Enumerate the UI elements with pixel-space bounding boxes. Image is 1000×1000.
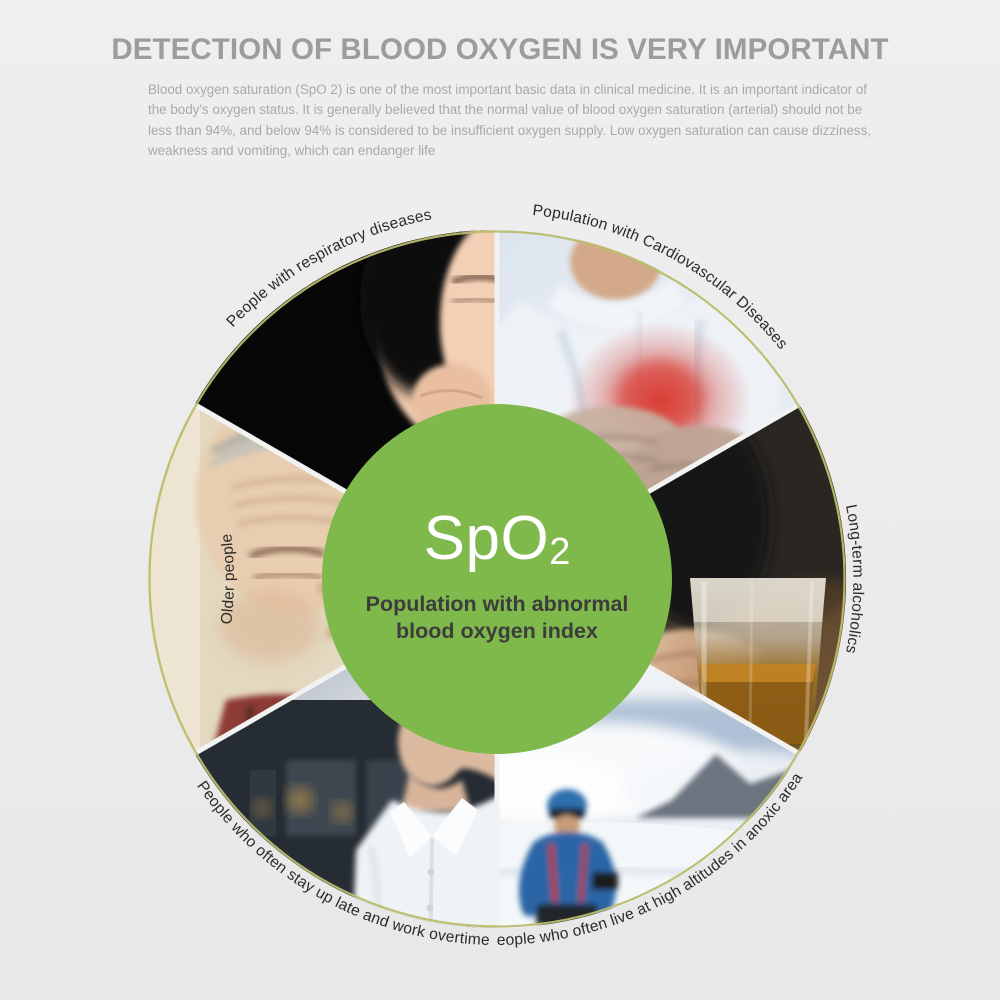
center-caption-line1: Population with abnormal [347,591,647,618]
spo2-subscript: 2 [549,531,570,573]
center-disc[interactable]: SpO2 Population with abnormal blood oxyg… [322,404,672,754]
center-caption: Population with abnormal blood oxygen in… [347,591,647,645]
spo2-acronym: SpO2 [424,508,571,570]
center-caption-line2: blood oxygen index [347,618,647,645]
segmented-wheel-diagram: People with respiratory diseases Populat… [0,0,1000,1000]
spo2-acronym-text: SpO [424,504,550,573]
label-older-people: Older people [218,533,238,625]
